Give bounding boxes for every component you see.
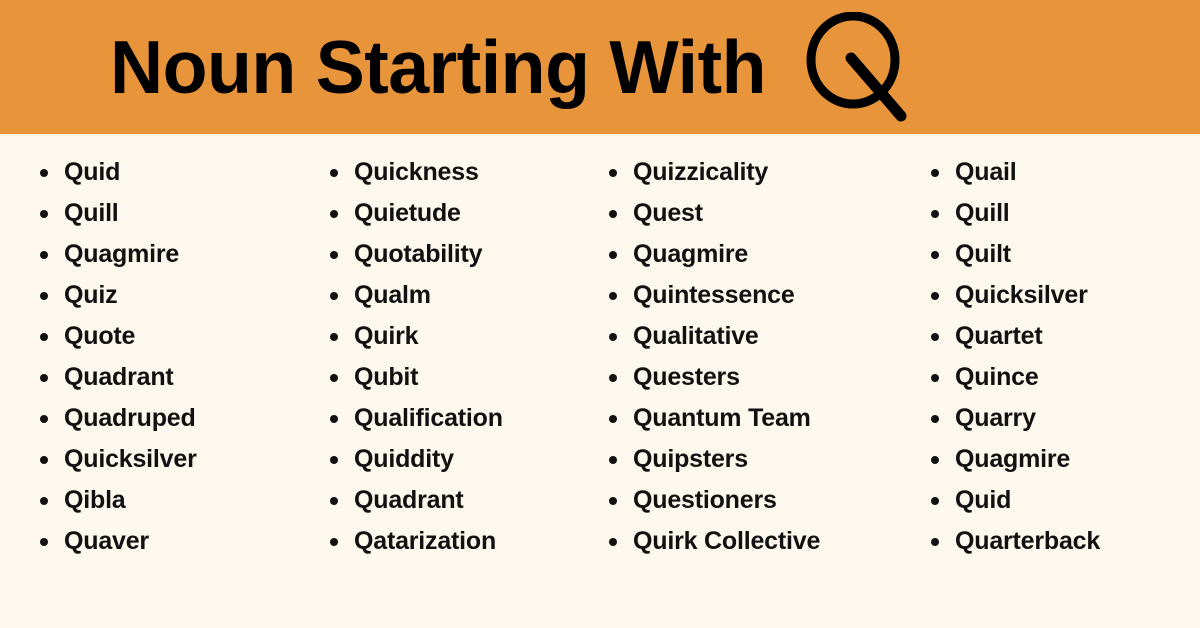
list-item: Qatarization [326, 521, 580, 562]
list-item: Quadrant [326, 480, 580, 521]
word-label: Quid [64, 158, 120, 186]
word-column-2: Quickness Quietude Quotability Qualm Qui… [290, 152, 580, 562]
word-label: Quail [955, 158, 1017, 186]
header-band: Noun Starting With [0, 0, 1200, 134]
word-label: Quicksilver [64, 445, 197, 473]
word-label: Quickness [354, 158, 479, 186]
bullet-icon [330, 497, 338, 505]
list-item: Quid [36, 152, 290, 193]
word-label: Quarry [955, 404, 1036, 432]
word-columns: Quid Quill Quagmire Quiz Quote Quadrant … [0, 134, 1200, 628]
bullet-icon [609, 456, 617, 464]
list-item: Quill [927, 193, 1200, 234]
word-label: Qubit [354, 363, 418, 391]
word-label: Quartet [955, 322, 1043, 350]
bullet-icon [609, 169, 617, 177]
bullet-icon [330, 333, 338, 341]
word-label: Quadruped [64, 404, 196, 432]
word-label: Quince [955, 363, 1039, 391]
word-label: Qualitative [633, 322, 759, 350]
word-column-1: Quid Quill Quagmire Quiz Quote Quadrant … [0, 152, 290, 562]
word-label: Quagmire [955, 445, 1070, 473]
bullet-icon [330, 251, 338, 259]
bullet-icon [609, 210, 617, 218]
bullet-icon [40, 374, 48, 382]
word-label: Quintessence [633, 281, 795, 309]
bullet-icon [330, 292, 338, 300]
list-item: Quirk Collective [605, 521, 905, 562]
word-label: Quill [955, 199, 1010, 227]
list-item: Questers [605, 357, 905, 398]
word-label: Quizzicality [633, 158, 768, 186]
word-label: Qualm [354, 281, 431, 309]
list-item: Quest [605, 193, 905, 234]
word-column-3: Quizzicality Quest Quagmire Quintessence… [580, 152, 905, 562]
magnifier-q-icon [803, 12, 911, 124]
bullet-icon [40, 456, 48, 464]
word-label: Quiddity [354, 445, 454, 473]
bullet-icon [40, 292, 48, 300]
word-label: Qualification [354, 404, 503, 432]
bullet-icon [40, 169, 48, 177]
list-item: Quarterback [927, 521, 1200, 562]
word-label: Quagmire [633, 240, 748, 268]
list-item: Quicksilver [927, 275, 1200, 316]
bullet-icon [609, 333, 617, 341]
word-label: Quest [633, 199, 703, 227]
list-item: Quill [36, 193, 290, 234]
bullet-icon [609, 415, 617, 423]
bullet-icon [40, 497, 48, 505]
list-item: Quagmire [927, 439, 1200, 480]
list-item: Qualitative [605, 316, 905, 357]
word-label: Qibla [64, 486, 126, 514]
bullet-icon [931, 333, 939, 341]
list-item: Quaver [36, 521, 290, 562]
list-item: Questioners [605, 480, 905, 521]
bullet-icon [609, 292, 617, 300]
bullet-icon [931, 415, 939, 423]
list-item: Quotability [326, 234, 580, 275]
list-item: Quote [36, 316, 290, 357]
list-item: Quiz [36, 275, 290, 316]
list-item: Quagmire [36, 234, 290, 275]
word-label: Quotability [354, 240, 482, 268]
bullet-icon [330, 169, 338, 177]
word-label: Quarterback [955, 527, 1100, 555]
list-item: Quietude [326, 193, 580, 234]
bullet-icon [931, 292, 939, 300]
bullet-icon [931, 210, 939, 218]
list-item: Quiddity [326, 439, 580, 480]
list-item: Quartet [927, 316, 1200, 357]
list-item: Quicksilver [36, 439, 290, 480]
list-item: Qualification [326, 398, 580, 439]
list-item: Quipsters [605, 439, 905, 480]
bullet-icon [931, 456, 939, 464]
list-item: Quilt [927, 234, 1200, 275]
bullet-icon [931, 169, 939, 177]
list-item: Qubit [326, 357, 580, 398]
bullet-icon [609, 538, 617, 546]
bullet-icon [330, 538, 338, 546]
bullet-icon [609, 497, 617, 505]
list-item: Quagmire [605, 234, 905, 275]
bullet-icon [931, 538, 939, 546]
list-item: Quince [927, 357, 1200, 398]
bullet-icon [40, 415, 48, 423]
bullet-icon [330, 415, 338, 423]
bullet-icon [609, 251, 617, 259]
bullet-icon [609, 374, 617, 382]
word-label: Quid [955, 486, 1011, 514]
list-item: Qualm [326, 275, 580, 316]
word-label: Quirk [354, 322, 418, 350]
bullet-icon [931, 251, 939, 259]
list-item: Quail [927, 152, 1200, 193]
word-label: Quantum Team [633, 404, 811, 432]
list-item: Quadruped [36, 398, 290, 439]
bullet-icon [40, 210, 48, 218]
list-item: Quintessence [605, 275, 905, 316]
bullet-icon [330, 456, 338, 464]
word-label: Questers [633, 363, 740, 391]
word-label: Quietude [354, 199, 461, 227]
list-item: Quirk [326, 316, 580, 357]
word-label: Quilt [955, 240, 1011, 268]
bullet-icon [40, 333, 48, 341]
word-label: Qatarization [354, 527, 496, 555]
word-label: Quadrant [354, 486, 464, 514]
list-item: Quizzicality [605, 152, 905, 193]
page-title: Noun Starting With [110, 27, 766, 107]
bullet-icon [931, 497, 939, 505]
word-label: Quote [64, 322, 135, 350]
bullet-icon [40, 251, 48, 259]
word-label: Quagmire [64, 240, 179, 268]
list-item: Quarry [927, 398, 1200, 439]
word-label: Quadrant [64, 363, 174, 391]
bullet-icon [40, 538, 48, 546]
list-item: Quadrant [36, 357, 290, 398]
word-label: Quirk Collective [633, 527, 820, 555]
word-label: Quill [64, 199, 119, 227]
list-item: Quid [927, 480, 1200, 521]
list-item: Quickness [326, 152, 580, 193]
word-label: Quicksilver [955, 281, 1088, 309]
list-item: Quantum Team [605, 398, 905, 439]
bullet-icon [330, 210, 338, 218]
bullet-icon [931, 374, 939, 382]
word-column-4: Quail Quill Quilt Quicksilver Quartet Qu… [905, 152, 1200, 562]
header-inner: Noun Starting With [110, 10, 911, 124]
word-label: Quaver [64, 527, 149, 555]
word-label: Quipsters [633, 445, 748, 473]
word-label: Quiz [64, 281, 117, 309]
list-item: Qibla [36, 480, 290, 521]
bullet-icon [330, 374, 338, 382]
word-label: Questioners [633, 486, 777, 514]
poster-root: Noun Starting With Quid Quill Quagmire Q… [0, 0, 1200, 628]
